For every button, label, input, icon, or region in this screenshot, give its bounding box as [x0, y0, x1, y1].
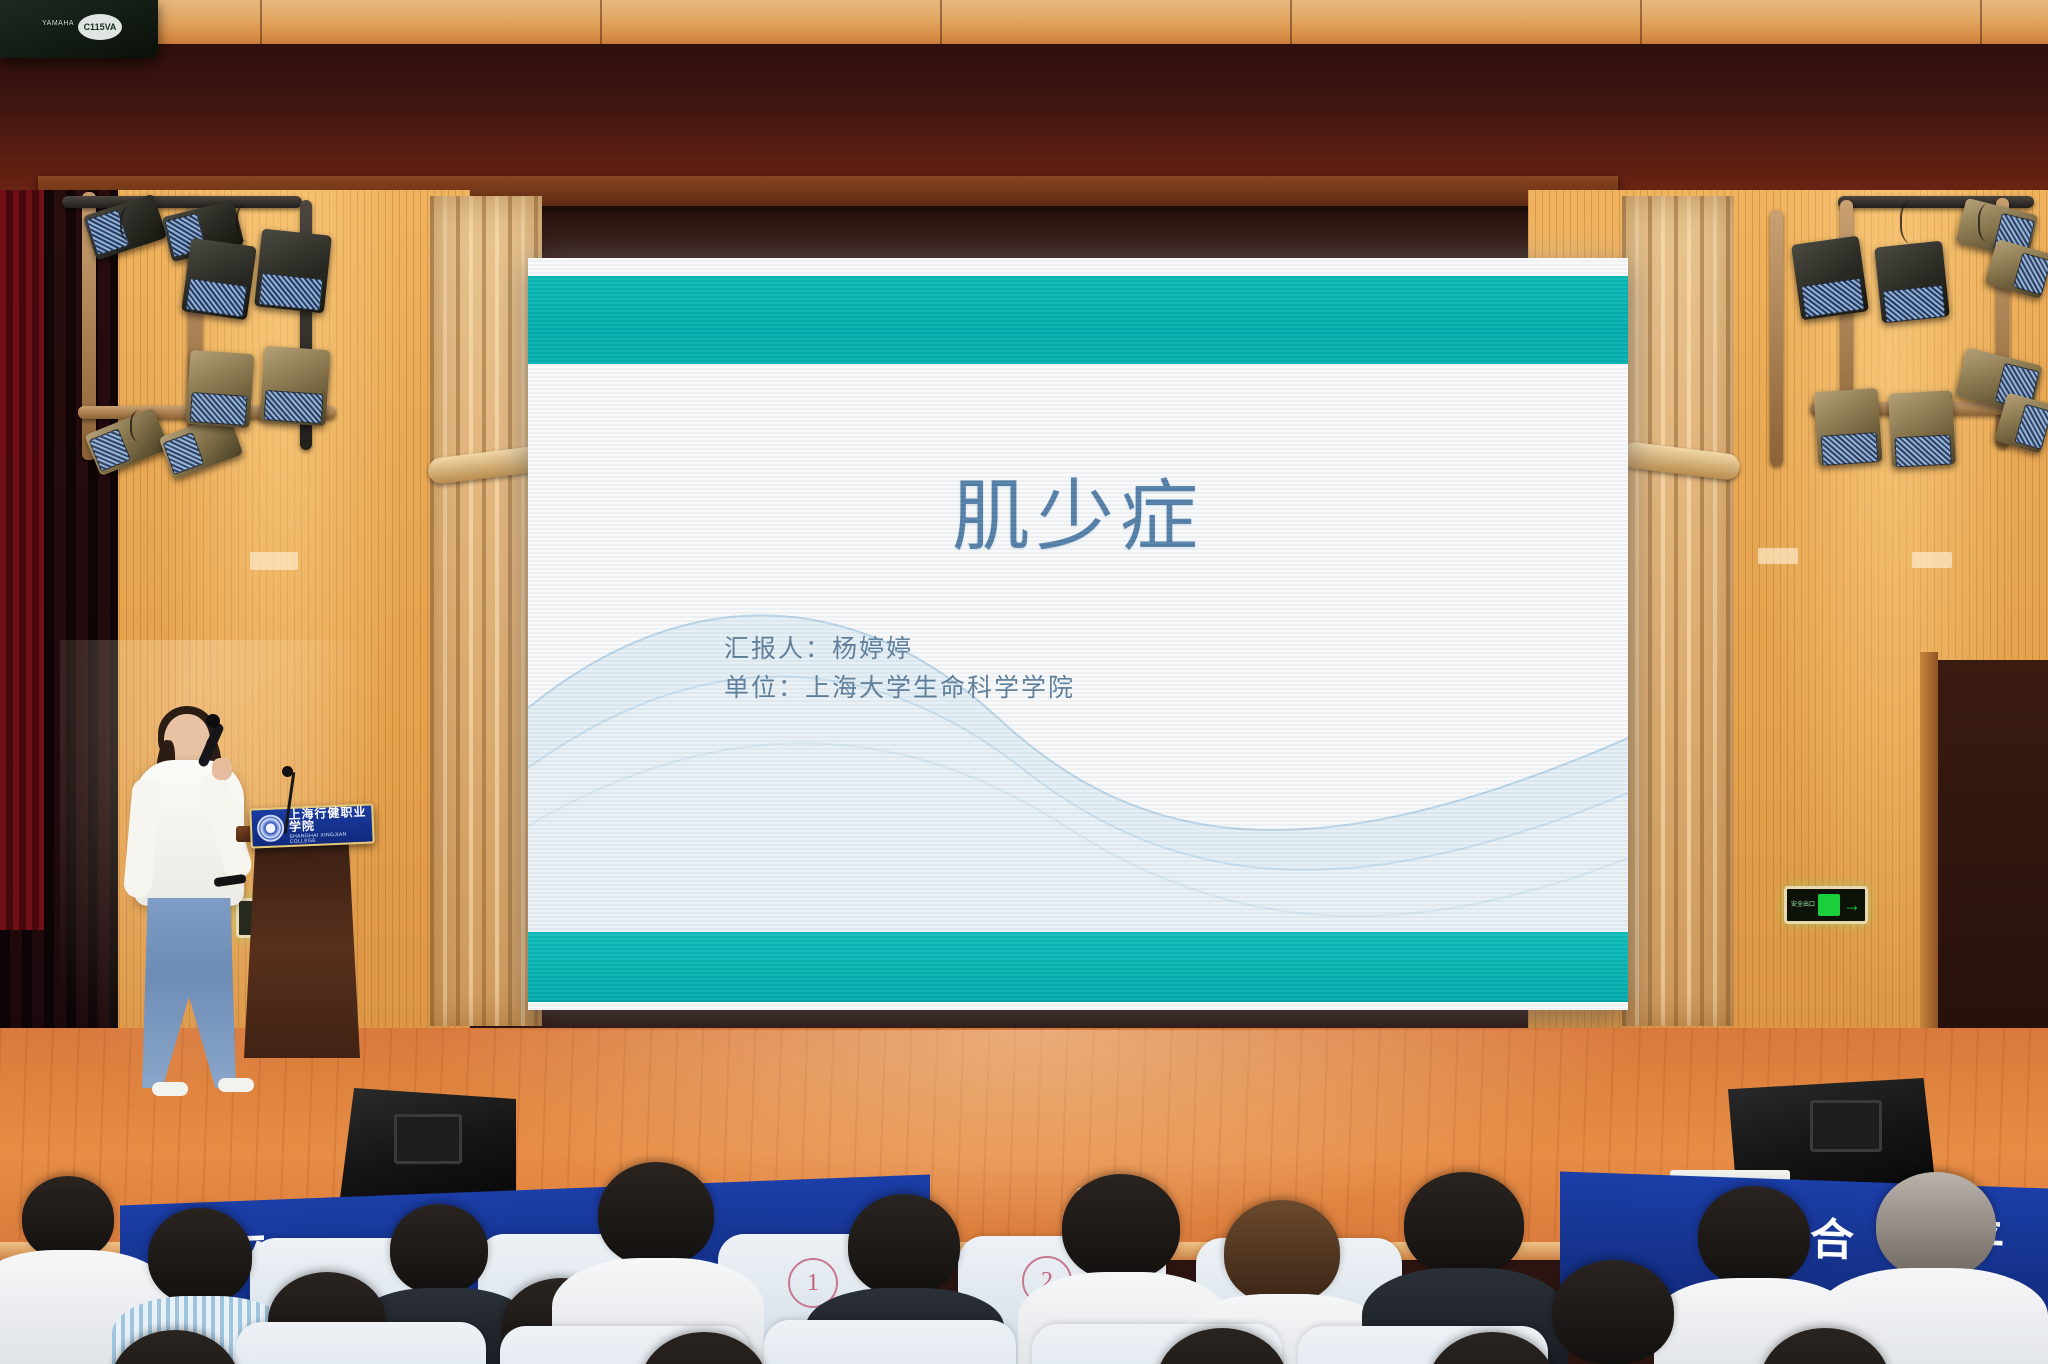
college-seal-icon [256, 814, 284, 842]
audience-head-9 [1224, 1200, 1340, 1304]
presentation-slide: 肌少症 汇报人：杨婷婷 单位：上海大学生命科学学院 [528, 258, 1628, 1010]
projection-screen: 肌少症 汇报人：杨婷婷 单位：上海大学生命科学学院 [528, 258, 1628, 1010]
par-light-r5 [1813, 388, 1882, 466]
audience-seating: 平 合 平 1 2 3 8 6 [0, 1146, 2048, 1364]
exit-sign-right-label: 安全出口 [1791, 902, 1815, 909]
par-light-l8 [259, 346, 330, 426]
presenter-right-hand [212, 758, 232, 780]
proscenium-beam [0, 44, 2048, 194]
slide-top-accent-band [528, 276, 1628, 364]
audience-head-13 [1552, 1260, 1674, 1364]
right-door-frame [1920, 652, 1938, 1064]
slide-wave-graphic [528, 558, 1628, 958]
slide-affiliation-line: 单位：上海大学生命科学学院 [724, 669, 1075, 708]
slide-bottom-accent-band [528, 932, 1628, 1002]
par-light-r6 [1888, 390, 1956, 467]
speaker-model-badge: C115VA [78, 14, 122, 40]
left-gold-stage-curtain [430, 196, 542, 1026]
par-light-r1 [1791, 236, 1869, 321]
slide-subtitle-block: 汇报人：杨婷婷 单位：上海大学生命科学学院 [724, 630, 1075, 708]
banner-right-text-1: 合 [1810, 1218, 1854, 1264]
par-light-r2 [1874, 241, 1950, 324]
audience-head-2 [148, 1208, 252, 1304]
chair-front-a[interactable] [236, 1322, 486, 1364]
par-light-l4 [254, 229, 332, 314]
presenter-left-shoe [152, 1082, 188, 1096]
exit-arrow-icon: → [1843, 896, 1861, 914]
par-light-l3 [181, 238, 257, 320]
slide-presenter-line: 汇报人：杨婷婷 [724, 630, 1075, 669]
left-red-curtain [0, 190, 44, 930]
presenter-right-shoe [218, 1078, 254, 1092]
audience-head-10 [1404, 1172, 1524, 1276]
wall-plate-left [250, 552, 298, 570]
audience-head-3 [390, 1204, 488, 1294]
audience-head-7 [848, 1194, 960, 1296]
ceiling-speaker-cabinet: YAMAHA C115VA [0, 0, 158, 58]
speaker-brand-label: YAMAHA [42, 20, 74, 27]
podium [244, 838, 360, 1058]
ceiling-panels [0, 0, 2048, 46]
chair-front-c[interactable] [764, 1320, 1016, 1364]
audience-head-11 [1876, 1172, 1996, 1278]
audience-head-6 [598, 1162, 714, 1266]
audience-head-8 [1062, 1174, 1180, 1280]
wall-plate-right-a [1758, 548, 1798, 564]
podium-chinese-name: 上海行健职业学院 [288, 806, 367, 833]
par-light-l7 [185, 350, 254, 428]
microphone-head [206, 714, 220, 728]
wall-plate-right-b [1912, 552, 1952, 568]
podium-english-name: SHANGHAI XINGJIAN COLLEGE [289, 832, 367, 845]
audience-head-12 [1698, 1186, 1810, 1286]
slide-title: 肌少症 [528, 454, 1628, 566]
right-stage-door[interactable] [1932, 660, 2048, 1060]
right-gold-stage-curtain [1622, 196, 1734, 1026]
podium-nameplate: 上海行健职业学院 SHANGHAI XINGJIAN COLLEGE [249, 803, 375, 848]
running-man-icon [1818, 894, 1840, 916]
exit-sign-right: 安全出口 → [1784, 886, 1868, 924]
audience-head-1 [22, 1176, 114, 1260]
podium-mic-capsule [282, 766, 293, 777]
auditorium-stage-photo: YAMAHA C115VA [0, 0, 2048, 1364]
